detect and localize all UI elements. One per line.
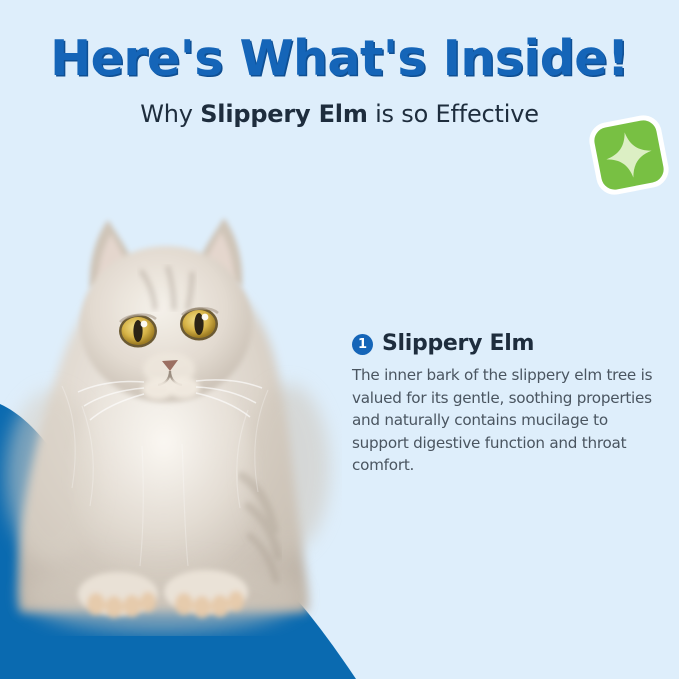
header-block: Here's What's Inside! Why Slippery Elm i…: [0, 0, 679, 126]
page-title: Here's What's Inside!: [0, 34, 679, 83]
sparkle-badge-icon: [586, 112, 672, 198]
subtitle-prefix: Why: [140, 100, 200, 128]
subtitle-suffix: is so Effective: [368, 100, 539, 128]
ingredient-number-badge: 1: [352, 334, 373, 355]
ingredient-header: 1 Slippery Elm: [352, 332, 664, 356]
promotional-graphic: Here's What's Inside! Why Slippery Elm i…: [0, 0, 679, 679]
ingredient-description: The inner bark of the slippery elm tree …: [352, 364, 662, 477]
page-subtitle: Why Slippery Elm is so Effective: [0, 102, 679, 126]
cat-photo: [0, 176, 342, 636]
ingredient-block: 1 Slippery Elm The inner bark of the sli…: [352, 332, 664, 477]
subtitle-highlight: Slippery Elm: [200, 100, 367, 128]
ingredient-name: Slippery Elm: [382, 332, 534, 356]
